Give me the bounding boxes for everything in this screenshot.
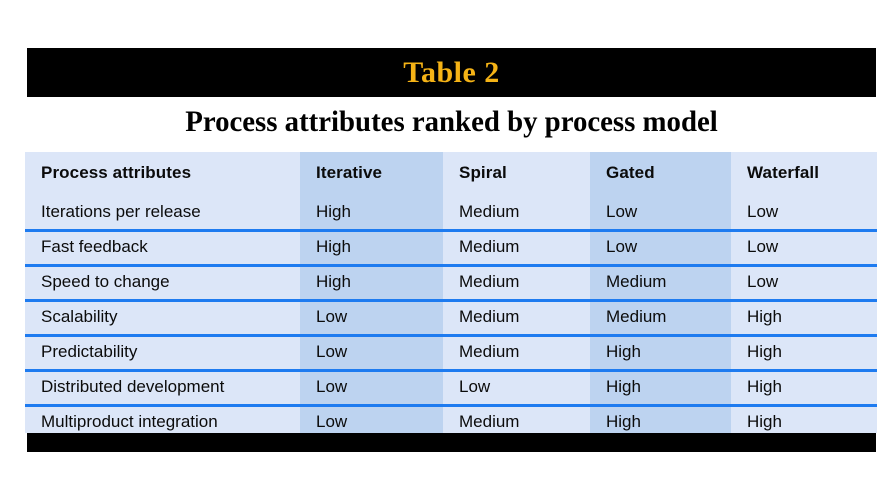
cell-iterative: Low xyxy=(300,377,443,397)
cell-iterative: High xyxy=(300,237,443,257)
cell-spiral: Medium xyxy=(443,342,590,362)
cell-attribute: Speed to change xyxy=(25,272,300,292)
cell-waterfall: High xyxy=(731,377,877,397)
table-row: Predictability Low Medium High High xyxy=(25,334,877,369)
cell-waterfall: High xyxy=(731,307,877,327)
footer-rule xyxy=(27,433,876,452)
cell-gated: High xyxy=(590,412,731,432)
cell-waterfall: High xyxy=(731,342,877,362)
cell-attribute: Predictability xyxy=(25,342,300,362)
table-row: Multiproduct integration Low Medium High… xyxy=(25,404,877,433)
cell-waterfall: Low xyxy=(731,202,877,222)
cell-iterative: Low xyxy=(300,342,443,362)
cell-spiral: Low xyxy=(443,377,590,397)
cell-attribute: Iterations per release xyxy=(25,202,300,222)
cell-iterative: High xyxy=(300,272,443,292)
table-number-label: Table 2 xyxy=(27,48,876,97)
cell-spiral: Medium xyxy=(443,307,590,327)
cell-attribute: Fast feedback xyxy=(25,237,300,257)
cell-spiral: Medium xyxy=(443,412,590,432)
table-row: Distributed development Low Low High Hig… xyxy=(25,369,877,404)
column-header-process-attributes: Process attributes xyxy=(25,163,300,183)
cell-spiral: Medium xyxy=(443,237,590,257)
table-row: Speed to change High Medium Medium Low xyxy=(25,264,877,299)
table-header-row: Process attributes Iterative Spiral Gate… xyxy=(25,152,877,194)
cell-gated: High xyxy=(590,377,731,397)
cell-attribute: Distributed development xyxy=(25,377,300,397)
cell-spiral: Medium xyxy=(443,202,590,222)
attributes-table: Process attributes Iterative Spiral Gate… xyxy=(25,152,877,433)
column-header-gated: Gated xyxy=(590,163,731,183)
cell-spiral: Medium xyxy=(443,272,590,292)
cell-iterative: High xyxy=(300,202,443,222)
table-figure: Table 2 Process attributes ranked by pro… xyxy=(0,0,895,483)
cell-gated: Low xyxy=(590,237,731,257)
table-row: Scalability Low Medium Medium High xyxy=(25,299,877,334)
cell-attribute: Scalability xyxy=(25,307,300,327)
cell-attribute: Multiproduct integration xyxy=(25,412,300,432)
cell-gated: Medium xyxy=(590,307,731,327)
cell-gated: Low xyxy=(590,202,731,222)
table-row: Iterations per release High Medium Low L… xyxy=(25,194,877,229)
cell-iterative: Low xyxy=(300,412,443,432)
table-row: Fast feedback High Medium Low Low xyxy=(25,229,877,264)
cell-waterfall: High xyxy=(731,412,877,432)
column-header-iterative: Iterative xyxy=(300,163,443,183)
table-body: Process attributes Iterative Spiral Gate… xyxy=(25,152,877,433)
cell-iterative: Low xyxy=(300,307,443,327)
cell-gated: High xyxy=(590,342,731,362)
cell-waterfall: Low xyxy=(731,237,877,257)
table-number-banner: Table 2 xyxy=(27,48,876,97)
column-header-waterfall: Waterfall xyxy=(731,163,877,183)
table-caption: Process attributes ranked by process mod… xyxy=(44,101,859,143)
cell-gated: Medium xyxy=(590,272,731,292)
column-header-spiral: Spiral xyxy=(443,163,590,183)
cell-waterfall: Low xyxy=(731,272,877,292)
